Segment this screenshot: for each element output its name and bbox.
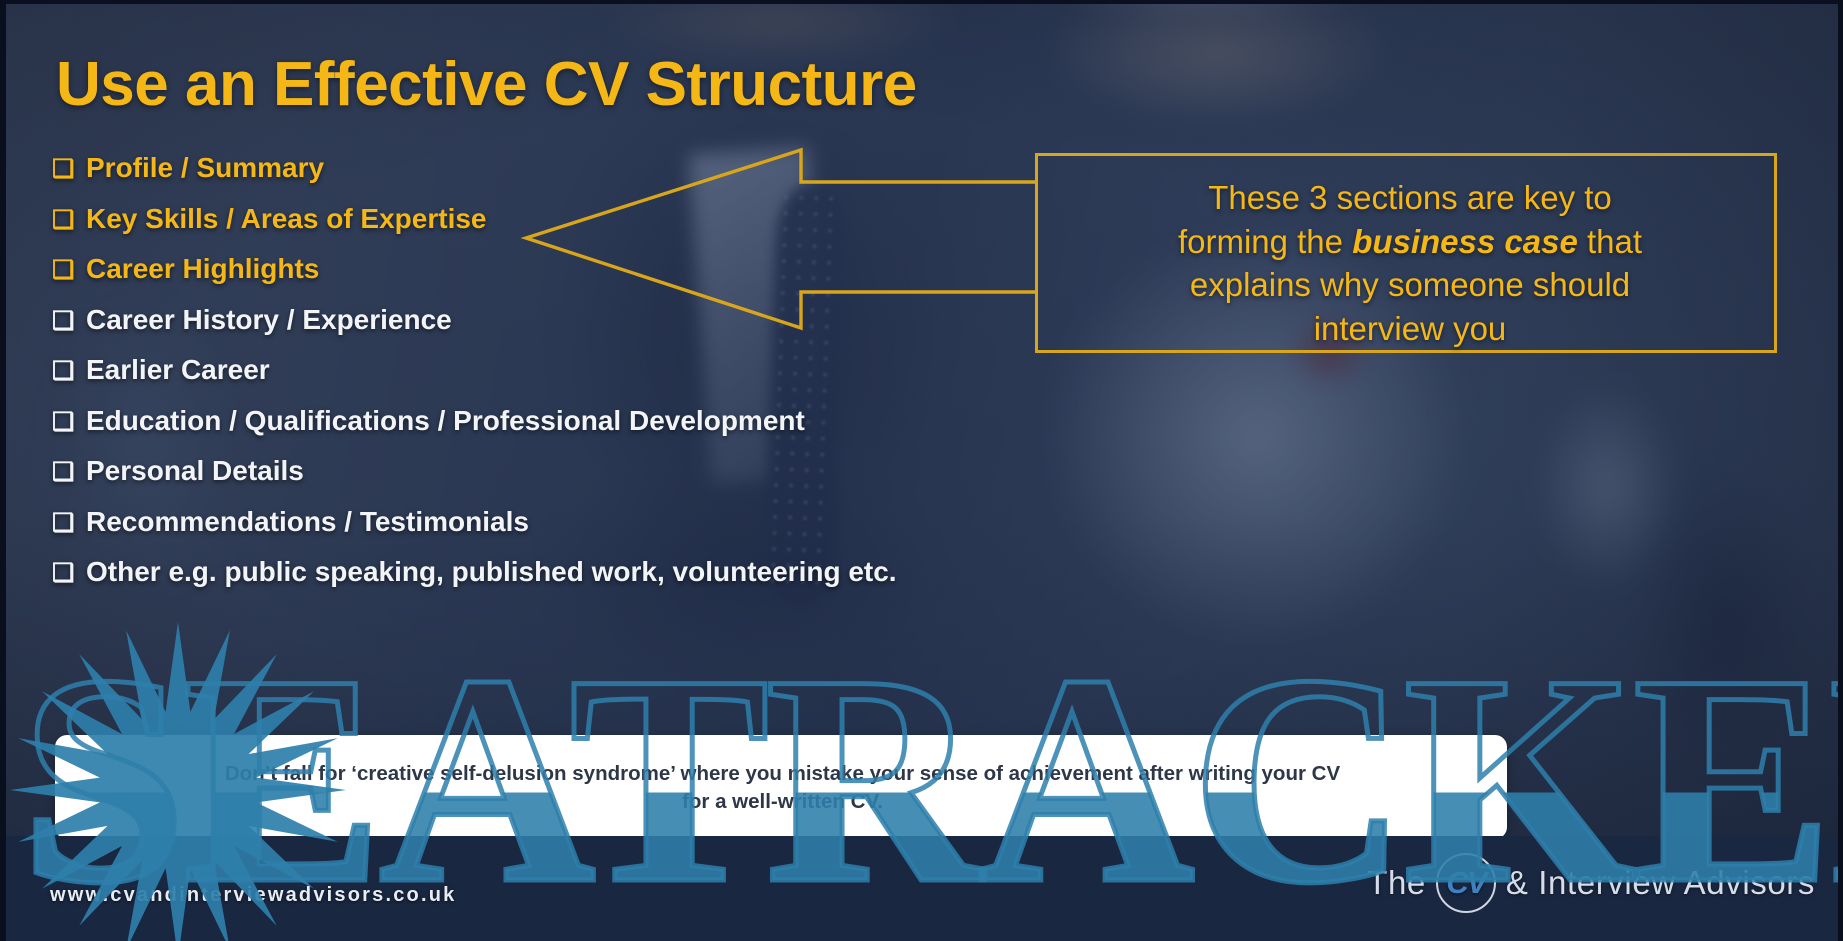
list-item: ❑Other e.g. public speaking, published w… (52, 556, 1052, 607)
list-item-label: Recommendations / Testimonials (86, 506, 529, 538)
list-item: ❑Education / Qualifications / Profession… (52, 405, 1052, 456)
callout-text: These 3 sections are key to forming the … (1060, 176, 1760, 350)
logo-prefix: The (1367, 864, 1426, 902)
slide-edge-left (0, 0, 6, 941)
callout-line-2-before: forming the (1178, 223, 1352, 260)
page-title: Use an Effective CV Structure (56, 52, 917, 117)
list-item-label: Career Highlights (86, 253, 319, 285)
list-item-label: Other e.g. public speaking, published wo… (86, 556, 897, 588)
cv-monogram-icon: CV (1436, 853, 1496, 913)
slide-edge-right (1838, 0, 1843, 941)
slide-canvas: Use an Effective CV Structure ❑Profile /… (0, 0, 1843, 941)
callout-line-4: interview you (1314, 310, 1507, 347)
bullet-square-icon: ❑ (52, 157, 86, 182)
list-item: ❑Recommendations / Testimonials (52, 506, 1052, 557)
callout-line-3: explains why someone should (1190, 266, 1630, 303)
list-item-label: Education / Qualifications / Professiona… (86, 405, 805, 437)
bullet-square-icon: ❑ (52, 359, 86, 384)
list-item: ❑Personal Details (52, 455, 1052, 506)
bullet-square-icon: ❑ (52, 258, 86, 283)
list-item-label: Career History / Experience (86, 304, 452, 336)
bullet-square-icon: ❑ (52, 511, 86, 536)
bullet-square-icon: ❑ (52, 208, 86, 233)
list-item-label: Profile / Summary (86, 152, 324, 184)
bullet-square-icon: ❑ (52, 309, 86, 334)
callout-emphasis: business case (1352, 223, 1578, 260)
footer-website-url[interactable]: www.cvandinterviewadvisors.co.uk (50, 884, 456, 907)
bullet-square-icon: ❑ (52, 460, 86, 485)
list-item: ❑Earlier Career (52, 354, 1052, 405)
slide-edge-top (0, 0, 1843, 4)
bullet-square-icon: ❑ (52, 561, 86, 586)
list-item-label: Key Skills / Areas of Expertise (86, 203, 487, 235)
list-item-label: Earlier Career (86, 354, 270, 386)
bullet-square-icon: ❑ (52, 410, 86, 435)
logo-suffix: & Interview Advisors (1506, 864, 1815, 902)
callout-line-2-after: that (1578, 223, 1642, 260)
brand-logo: The CV & Interview Advisors (1367, 853, 1815, 913)
warning-note-text: Don’t fall for ‘creative self-delusion s… (75, 760, 1490, 815)
note-line-1: Don’t fall for ‘creative self-delusion s… (225, 762, 1340, 785)
note-line-2: for a well-written CV. (682, 790, 883, 813)
callout-line-1: These 3 sections are key to (1208, 179, 1612, 216)
list-item-label: Personal Details (86, 455, 304, 487)
